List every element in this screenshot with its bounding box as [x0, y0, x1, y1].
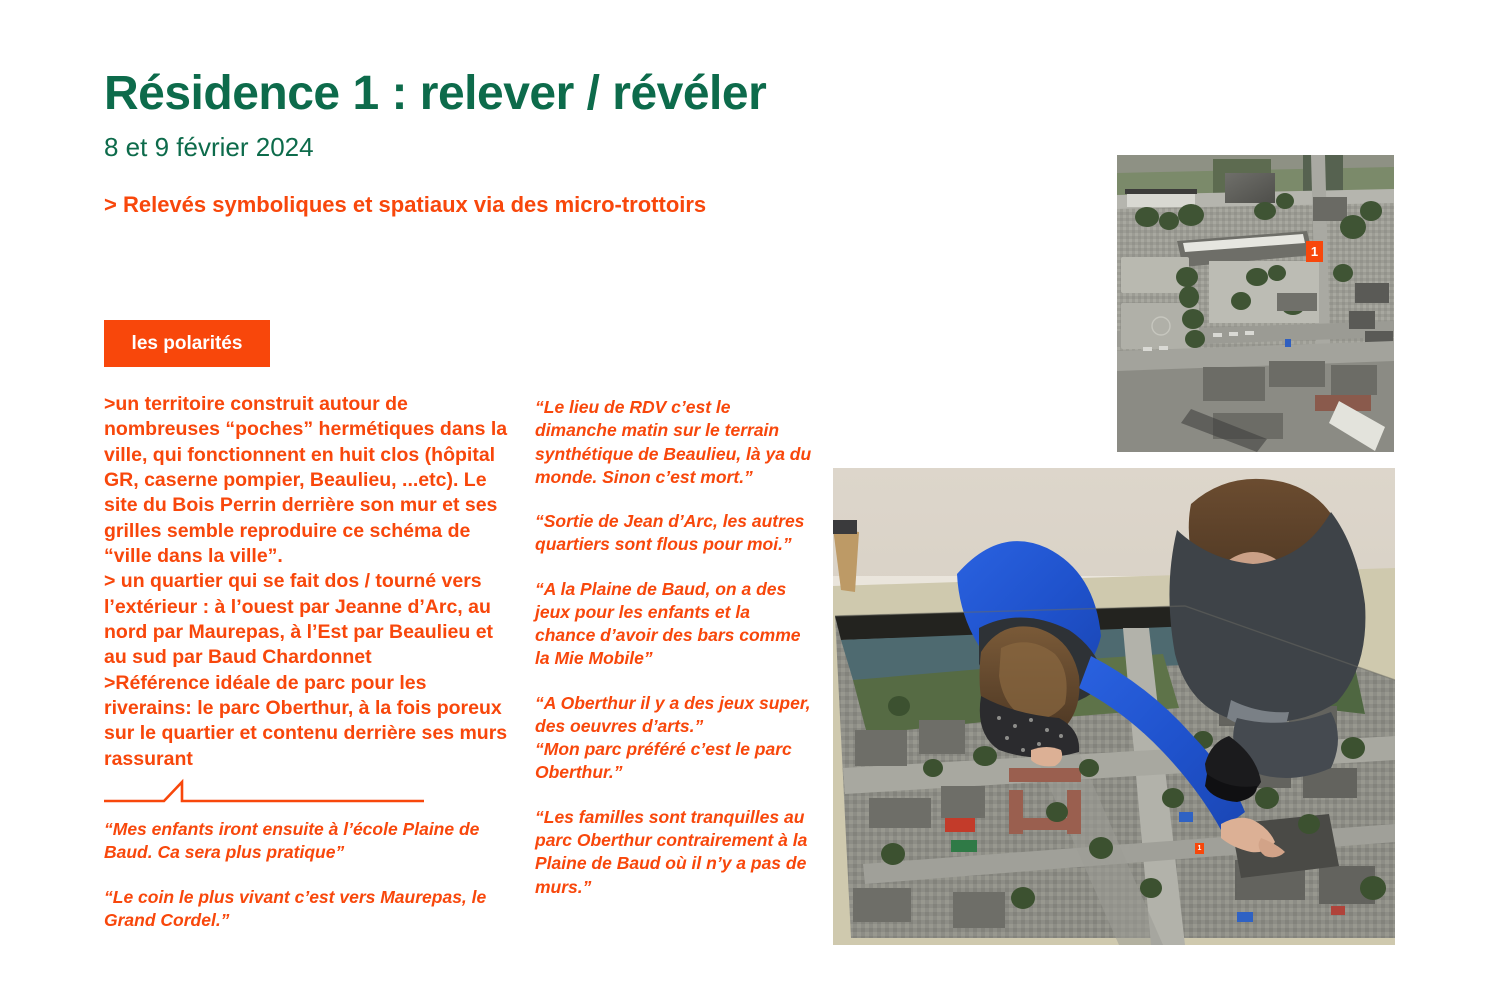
section-heading: > Relevés symboliques et spatiaux via de…: [104, 192, 706, 218]
body-paragraph: >un territoire construit autour de nombr…: [104, 392, 514, 569]
aerial-photo-site: [1117, 155, 1394, 452]
poster-page: Résidence 1 : relever / révéler 8 et 9 f…: [0, 0, 1500, 1000]
page-title: Résidence 1 : relever / révéler: [104, 66, 766, 121]
quote-item: “Sortie de Jean d’Arc, les autres quarti…: [535, 510, 813, 557]
left-text-column: >un territoire construit autour de nombr…: [104, 392, 514, 772]
quote-item: “A Oberthur il y a des jeux super, des o…: [535, 692, 813, 739]
quote-item: “Les familles sont tranquilles au parc O…: [535, 806, 813, 899]
status-badge-polarites: les polarités: [104, 320, 270, 367]
body-paragraph: > un quartier qui se fait dos / tourné v…: [104, 569, 514, 670]
sawtooth-divider: [104, 778, 424, 808]
left-quotes-group: “Mes enfants iront ensuite à l’école Pla…: [104, 818, 504, 953]
page-date: 8 et 9 février 2024: [104, 132, 314, 163]
quote-item: “A la Plaine de Baud, on a des jeux pour…: [535, 578, 813, 671]
quote-item: “Mon parc préféré c’est le parc Oberthur…: [535, 738, 813, 785]
workshop-photo-participants: [833, 468, 1395, 945]
middle-quotes-column: “Le lieu de RDV c’est le dimanche matin …: [535, 396, 813, 920]
body-paragraph: >Référence idéale de parc pour les river…: [104, 671, 514, 772]
quote-item: “Le coin le plus vivant c’est vers Maure…: [104, 886, 504, 933]
map-marker-1-workshop: 1: [1195, 843, 1204, 854]
map-marker-1: 1: [1306, 241, 1323, 262]
quote-item: “Mes enfants iront ensuite à l’école Pla…: [104, 818, 504, 865]
quote-item: “Le lieu de RDV c’est le dimanche matin …: [535, 396, 813, 489]
